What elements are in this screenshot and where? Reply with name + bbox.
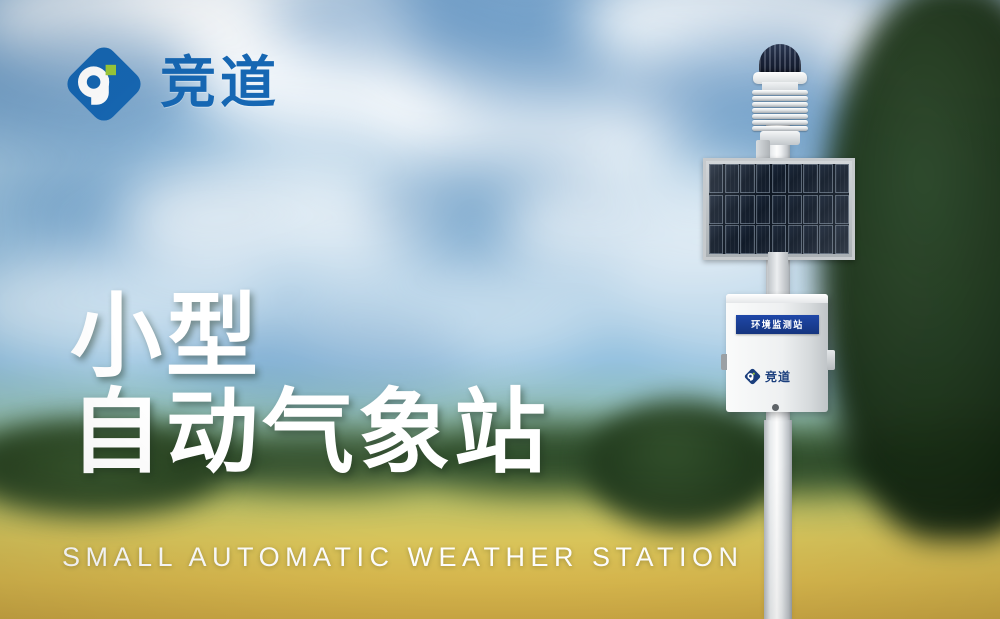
headline-line-1: 小型 (70, 283, 262, 390)
jingdao-diamond-logo-icon (64, 44, 144, 124)
control-box-left-tab (721, 354, 727, 370)
page-title: 小型 自动气象站 (70, 292, 550, 478)
control-box-top-edge (726, 294, 828, 303)
headline-line-2: 自动气象站 (70, 388, 550, 478)
control-box-right-tab (827, 350, 835, 370)
radiation-shield (752, 90, 808, 134)
control-box-screw (772, 404, 779, 411)
panel-bracket (768, 252, 788, 298)
solar-panel (703, 158, 855, 260)
control-box-brand-logo: 竞道 (744, 368, 791, 385)
control-box: 环境监测站 竞道 (726, 294, 828, 412)
ultrasonic-sensor-dome-icon (759, 44, 801, 74)
control-box-banner-label: 环境监测站 (751, 318, 804, 332)
page-subtitle: SMALL AUTOMATIC WEATHER STATION (62, 542, 744, 573)
brand-logo[interactable]: 竞道 (64, 44, 280, 124)
jingdao-diamond-logo-icon (744, 368, 761, 385)
weather-station-promo-banner: 环境监测站 竞道 竞道 (0, 0, 1000, 619)
brand-name: 竞道 (160, 56, 280, 112)
mounting-pole-lower (764, 420, 792, 619)
control-box-banner: 环境监测站 (736, 315, 819, 334)
control-box-brand-name: 竞道 (765, 368, 791, 385)
solar-cell-grid (709, 164, 849, 254)
